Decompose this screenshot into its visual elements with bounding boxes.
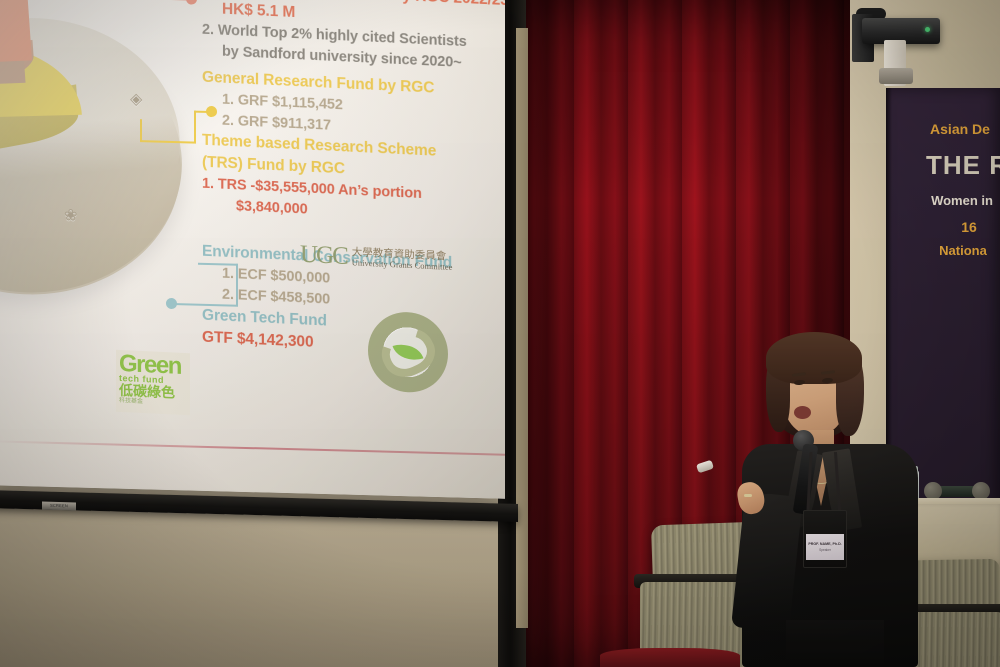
banner-line-venue: Nationa bbox=[926, 244, 1000, 258]
door-jamb bbox=[516, 28, 528, 628]
pie-wedge-orange bbox=[0, 0, 32, 66]
screen-brand-label: SCREEN bbox=[42, 502, 76, 511]
ecf-logo-inner bbox=[384, 327, 432, 377]
presenter-mouth bbox=[794, 406, 811, 419]
slide-content: ☗ ◈ ❀ bbox=[0, 0, 505, 499]
banner-line-asian: Asian De bbox=[920, 122, 1000, 137]
banner-line-title: THE RIS bbox=[926, 151, 1000, 180]
presenter bbox=[690, 318, 940, 667]
flower-icon: ❀ bbox=[64, 205, 77, 225]
ugc-monogram: UGC bbox=[300, 242, 347, 269]
presenter-legs bbox=[786, 620, 884, 667]
banner-line-subtitle: Women in bbox=[924, 194, 1000, 208]
badge-role-text: Speaker bbox=[819, 548, 831, 552]
paint-drop-icon: ◈ bbox=[130, 89, 142, 109]
slide-text-block: RGC Research Fellow” by RGC 2022/23 HK$ … bbox=[202, 0, 502, 362]
green-tech-fund-logo: Green tech fund 低碳綠色 科技基金 bbox=[116, 350, 190, 415]
banner-line-date: 16 bbox=[938, 220, 1000, 235]
speaker-ring bbox=[879, 68, 913, 84]
slide-divider-line bbox=[0, 440, 505, 455]
presenter-ring bbox=[744, 494, 752, 497]
camera-led-indicator bbox=[925, 27, 930, 32]
presenter-hair-fringe bbox=[766, 332, 862, 384]
name-badge-card: PROF. NAME, Ph.D. Speaker bbox=[806, 534, 844, 560]
badge-name-text: PROF. NAME, Ph.D. bbox=[808, 542, 841, 546]
projection-screen: ☗ ◈ ❀ bbox=[0, 0, 505, 499]
presentation-photo-scene: Asian De THE RIS Women in 16 Nationa bbox=[0, 0, 1000, 667]
pie-chart-illustration: ☗ ◈ ❀ bbox=[0, 0, 202, 341]
